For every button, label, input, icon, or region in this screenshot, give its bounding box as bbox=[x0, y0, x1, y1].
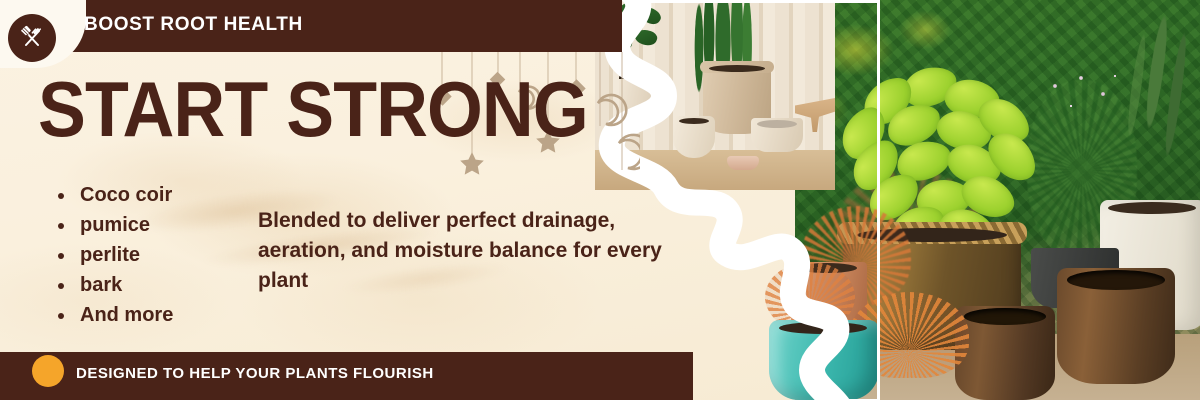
ficus-leaf bbox=[633, 27, 659, 48]
outdoor-garden-photo bbox=[795, 0, 1200, 400]
small-wood-pot bbox=[955, 306, 1055, 400]
list-item: Coco coir bbox=[54, 180, 173, 210]
empty-bowl-pot bbox=[751, 118, 803, 152]
crossed-garden-tools-icon bbox=[8, 14, 56, 62]
eyebrow-text: BOOST ROOT HEALTH bbox=[84, 14, 303, 36]
promo-banner: BOOST ROOT HEALTH START STRONG bbox=[0, 0, 1200, 400]
description-text: Blended to deliver perfect drainage, aer… bbox=[258, 206, 688, 296]
terracotta-saucer bbox=[727, 156, 759, 170]
page-title: START STRONG bbox=[38, 72, 588, 146]
list-item: And more bbox=[54, 300, 173, 330]
teal-ceramic-pot bbox=[769, 320, 879, 400]
ingredient-list: Coco coir pumice perlite bark And more bbox=[54, 180, 173, 330]
snake-plant-outdoor bbox=[1072, 0, 1200, 217]
list-item: pumice bbox=[54, 210, 173, 240]
list-item: bark bbox=[54, 270, 173, 300]
orange-circle-icon bbox=[32, 355, 64, 387]
small-white-pot bbox=[673, 116, 715, 158]
footer-tagline: DESIGNED TO HELP YOUR PLANTS FLOURISH bbox=[76, 365, 434, 382]
list-item: perlite bbox=[54, 240, 173, 270]
large-wood-pot bbox=[1057, 268, 1175, 384]
photo-collage bbox=[595, 0, 1200, 400]
